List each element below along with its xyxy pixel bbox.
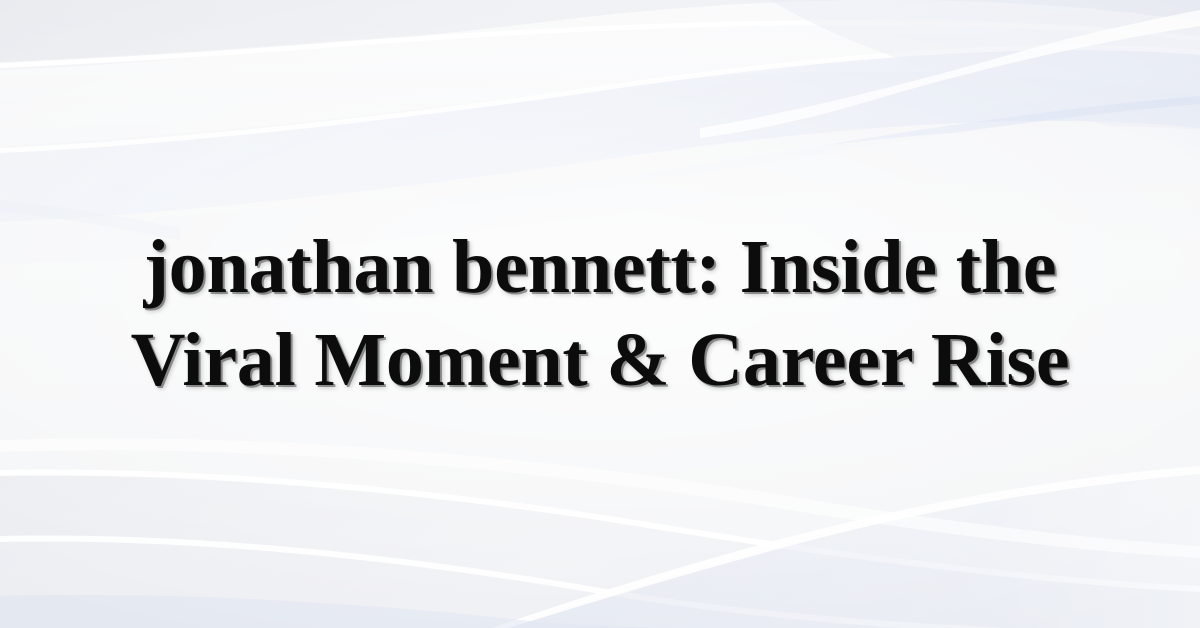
title-container: jonathan bennett: Inside the Viral Momen… <box>0 0 1200 628</box>
og-share-card: jonathan bennett: Inside the Viral Momen… <box>0 0 1200 628</box>
page-title: jonathan bennett: Inside the Viral Momen… <box>85 221 1115 406</box>
